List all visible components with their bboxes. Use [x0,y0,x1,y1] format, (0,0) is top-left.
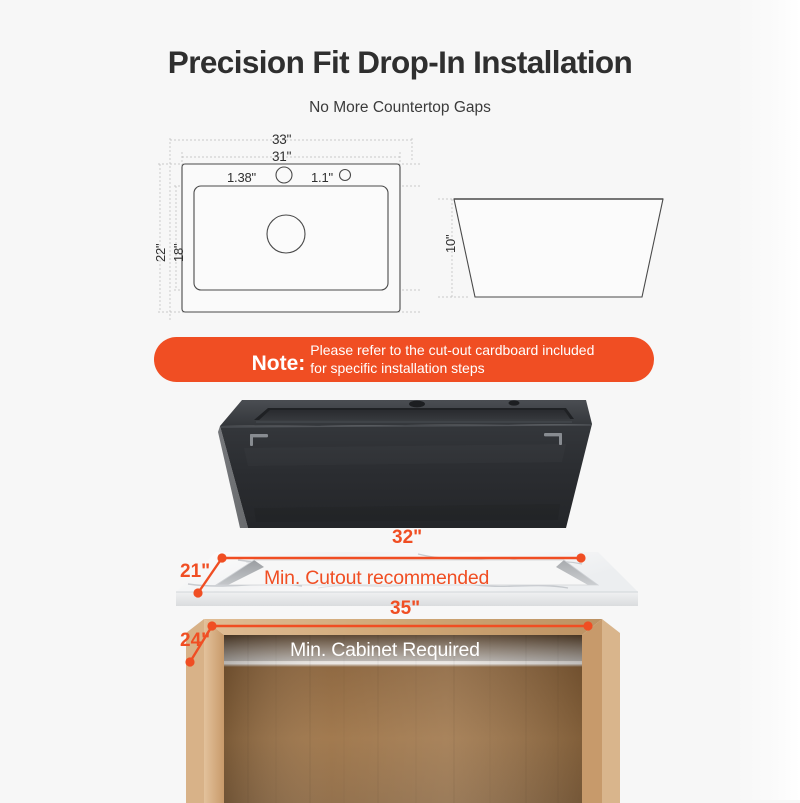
note-message: Please refer to the cut-out cardboard in… [310,342,594,378]
dim-outer-depth: 22" [153,244,168,262]
note-banner: Note: Please refer to the cut-out cardbo… [154,337,654,382]
label-min-cutout: Min. Cutout recommended [264,567,489,590]
infographic-canvas: Precision Fit Drop-In Installation No Mo… [0,0,800,800]
callout-cutout-depth: 21" [180,561,210,583]
dim-inner-depth: 18" [171,244,186,262]
callout-cabinet-depth: 24" [180,630,210,652]
note-line-2: for specific installation steps [310,360,484,376]
dim-faucet-hole-right: 1.1" [311,170,333,185]
sink-side-view-drawing [430,175,665,310]
dim-bowl-depth: 10" [443,235,458,253]
dim-faucet-hole-left: 1.38" [227,170,256,185]
note-label: Note: [252,353,306,374]
label-min-cabinet: Min. Cabinet Required [290,639,480,662]
dim-outer-width: 33" [272,132,291,147]
dim-inner-width: 31" [272,149,291,164]
note-line-1: Please refer to the cut-out cardboard in… [310,342,594,358]
page-title: Precision Fit Drop-In Installation [0,44,800,81]
callout-cutout-width: 32" [392,527,422,549]
sink-product-photo [214,388,596,534]
page-subtitle: No More Countertop Gaps [0,99,800,117]
callout-cabinet-width: 35" [390,598,420,620]
